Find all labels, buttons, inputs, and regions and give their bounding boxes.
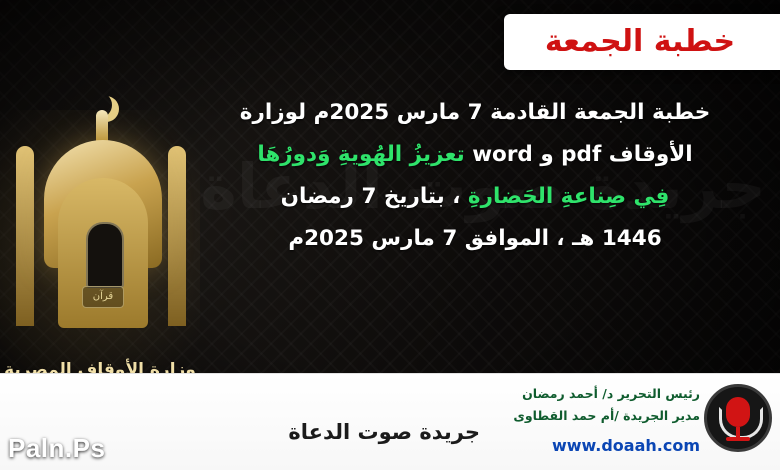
quran-badge: قرآن	[82, 286, 124, 308]
minaret-left-icon	[16, 146, 34, 326]
newspaper-name: جريدة صوت الدعاة	[288, 420, 480, 444]
minaret-right-icon	[168, 146, 186, 326]
managing-editor: مدير الجريدة /أم حمد القطاوى	[513, 408, 700, 423]
main-text-line-2-prefix: الأوقاف pdf و word	[472, 142, 692, 167]
main-text-block: خطبة الجمعة القادمة 7 مارس 2025م لوزارة …	[190, 92, 760, 260]
footer-strip: جريدة صوت الدعاة رئيس التحرير د/ أحمد رم…	[0, 373, 780, 470]
main-text-line-4: 1446 هـ ، الموافق 7 مارس 2025م	[190, 218, 760, 260]
main-text-line-3: فِي صِناعةِ الحَضارةِ ، بتاريخ 7 رمضان	[190, 176, 760, 218]
editor-in-chief: رئيس التحرير د/ أحمد رمضان	[522, 386, 700, 401]
main-text-line-3-highlight: فِي صِناعةِ الحَضارةِ	[468, 184, 669, 209]
finial-icon	[96, 110, 108, 144]
main-text-line-2-highlight: تعزيزُ الهُويةِ وَدورُهَا	[257, 142, 464, 167]
microphone-base	[726, 437, 750, 441]
main-text-line-3-suffix: ، بتاريخ 7 رمضان	[281, 184, 461, 209]
main-text-line-1: خطبة الجمعة القادمة 7 مارس 2025م لوزارة	[190, 92, 760, 134]
microphone-head	[726, 397, 750, 427]
mosque-window-icon	[86, 222, 124, 288]
corner-watermark: Paln.Ps	[8, 433, 105, 464]
website-link[interactable]: www.doaah.com	[552, 436, 700, 455]
banner-title-text: خطبة الجمعة	[504, 14, 776, 70]
title-banner: خطبة الجمعة	[504, 14, 780, 70]
microphone-logo-icon	[704, 384, 772, 452]
main-text-line-2: الأوقاف pdf و word تعزيزُ الهُويةِ وَدور…	[190, 134, 760, 176]
image-canvas: جريدة صوت الدعاة خطبة الجمعة خطبة الجمعة…	[0, 0, 780, 470]
